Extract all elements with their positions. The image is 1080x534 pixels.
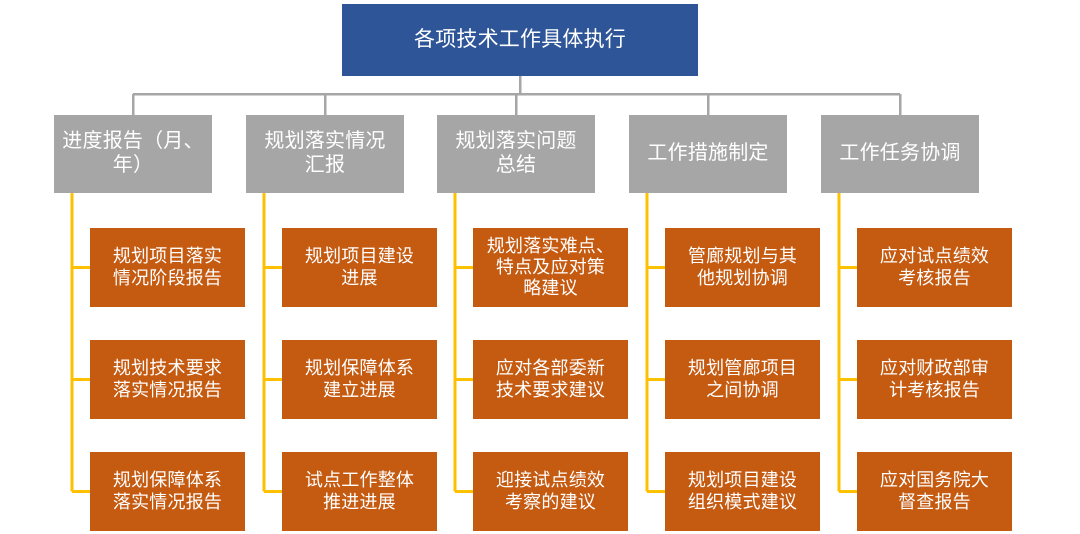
branch-node-1[interactable]: 规划落实情况 汇报 xyxy=(246,115,404,193)
leaf-node-1-0[interactable]: 规划项目建设 进展 xyxy=(282,228,437,307)
leaf-node-3-2[interactable]: 规划项目建设 组织模式建议 xyxy=(665,452,820,531)
leaf-node-1-1[interactable]: 规划保障体系 建立进展 xyxy=(282,340,437,419)
branch-node-4[interactable]: 工作任务协调 xyxy=(821,115,979,193)
root-node[interactable]: 各项技术工作具体执行 xyxy=(342,4,698,76)
leaf-node-4-2[interactable]: 应对国务院大 督查报告 xyxy=(857,452,1012,531)
org-chart-canvas: 各项技术工作具体执行 进度报告（月、 年） 规划落实情况 汇报 规划落实问题 总… xyxy=(0,0,1080,534)
leaf-node-0-2[interactable]: 规划保障体系 落实情况报告 xyxy=(90,452,245,531)
leaf-node-2-0[interactable]: 规划落实难点、 特点及应对策 略建议 xyxy=(473,228,628,307)
leaf-node-2-1[interactable]: 应对各部委新 技术要求建议 xyxy=(473,340,628,419)
branch-node-2[interactable]: 规划落实问题 总结 xyxy=(437,115,595,193)
leaf-node-0-0[interactable]: 规划项目落实 情况阶段报告 xyxy=(90,228,245,307)
leaf-node-0-1[interactable]: 规划技术要求 落实情况报告 xyxy=(90,340,245,419)
leaf-node-4-1[interactable]: 应对财政部审 计考核报告 xyxy=(857,340,1012,419)
leaf-node-1-2[interactable]: 试点工作整体 推进进展 xyxy=(282,452,437,531)
leaf-node-4-0[interactable]: 应对试点绩效 考核报告 xyxy=(857,228,1012,307)
branch-node-3[interactable]: 工作措施制定 xyxy=(629,115,787,193)
leaf-node-2-2[interactable]: 迎接试点绩效 考察的建议 xyxy=(473,452,628,531)
branch-node-0[interactable]: 进度报告（月、 年） xyxy=(54,115,212,193)
leaf-node-3-0[interactable]: 管廊规划与其 他规划协调 xyxy=(665,228,820,307)
leaf-node-3-1[interactable]: 规划管廊项目 之间协调 xyxy=(665,340,820,419)
